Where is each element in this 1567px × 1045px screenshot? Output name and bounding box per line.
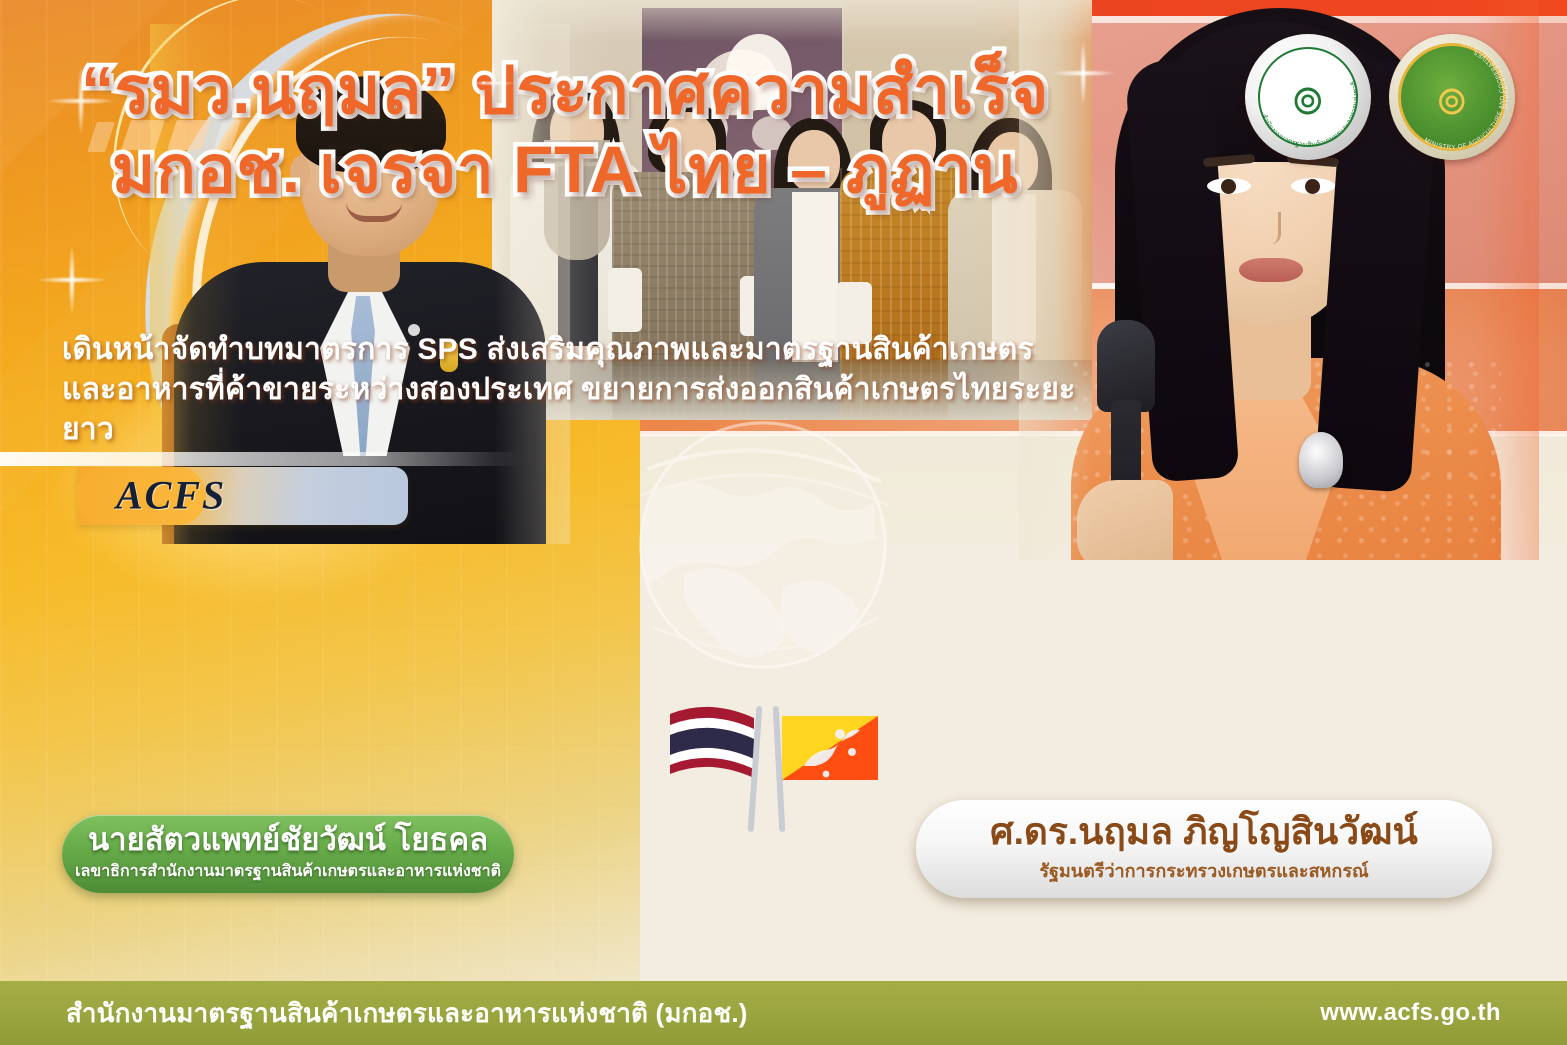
headline-line-2: มกอช. เจรจา FTA ไทย – ภูฏาน (0, 131, 1130, 208)
acfs-seal-ring-text: สำนักงานมาตรฐานสินค้าเกษตรและอาหารแห่งชา… (1245, 34, 1371, 160)
acfs-ribbon (0, 452, 520, 466)
footer-bar: สำนักงานมาตรฐานสินค้าเกษตรและอาหารแห่งชา… (0, 981, 1567, 1045)
poster-root: ACFS (0, 0, 1567, 1045)
badge-right-title: รัฐมนตรีว่าการกระทรวงเกษตรและสหกรณ์ (1039, 856, 1368, 885)
subtitle-line-2: และอาหารที่ค้าขายระหว่างสองประเทศ ขยายกา… (62, 370, 1122, 450)
badge-left-title: เลขาธิการสำนักงานมาตรฐานสินค้าเกษตรและอา… (75, 859, 501, 884)
acfs-wordmark: ACFS (116, 472, 226, 519)
footer-website[interactable]: www.acfs.go.th (1320, 999, 1501, 1027)
badge-left-name: นายสัตวแพทย์ชัยวัฒน์ โยธคล (88, 824, 488, 857)
moac-seal-ring-text: กระทรวงเกษตรและสหกรณ์ MINISTRY OF AGRICU… (1389, 34, 1515, 160)
logo-group: ๏ สำนักงานมาตรฐานสินค้าเกษตรและอาหารแห่ง… (1245, 34, 1515, 160)
svg-text:MINISTRY OF AGRICULTURE AND CO: MINISTRY OF AGRICULTURE AND COOPERATIVES (1423, 48, 1506, 151)
moac-seal-logo: ๏ กระทรวงเกษตรและสหกรณ์ MINISTRY OF AGRI… (1389, 34, 1515, 160)
subtitle-line-1: เดินหน้าจัดทำบทมาตรการ SPS ส่งเสริมคุณภา… (62, 330, 1122, 370)
headline: “รมว.นฤมล” ประกาศความสำเร็จ มกอช. เจรจา … (0, 52, 1130, 207)
headline-line-1: “รมว.นฤมล” ประกาศความสำเร็จ (0, 52, 1130, 129)
subtitle: เดินหน้าจัดทำบทมาตรการ SPS ส่งเสริมคุณภา… (62, 330, 1122, 451)
svg-text:สำนักงานมาตรฐานสินค้าเกษตรและอ: สำนักงานมาตรฐานสินค้าเกษตรและอาหารแห่งชา… (1260, 79, 1361, 149)
footer-organization: สำนักงานมาตรฐานสินค้าเกษตรและอาหารแห่งชา… (66, 993, 748, 1034)
badge-right-name: ศ.ดร.นฤมล ภิญโญสินวัฒน์ (990, 813, 1418, 852)
name-badge-left: นายสัตวแพทย์ชัยวัฒน์ โยธคล เลขาธิการสำนั… (62, 815, 514, 893)
name-badge-right: ศ.ดร.นฤมล ภิญโญสินวัฒน์ รัฐมนตรีว่าการกร… (916, 800, 1492, 898)
acfs-seal-logo: ๏ สำนักงานมาตรฐานสินค้าเกษตรและอาหารแห่ง… (1245, 34, 1371, 160)
acfs-logo-banner: ACFS (78, 467, 408, 525)
